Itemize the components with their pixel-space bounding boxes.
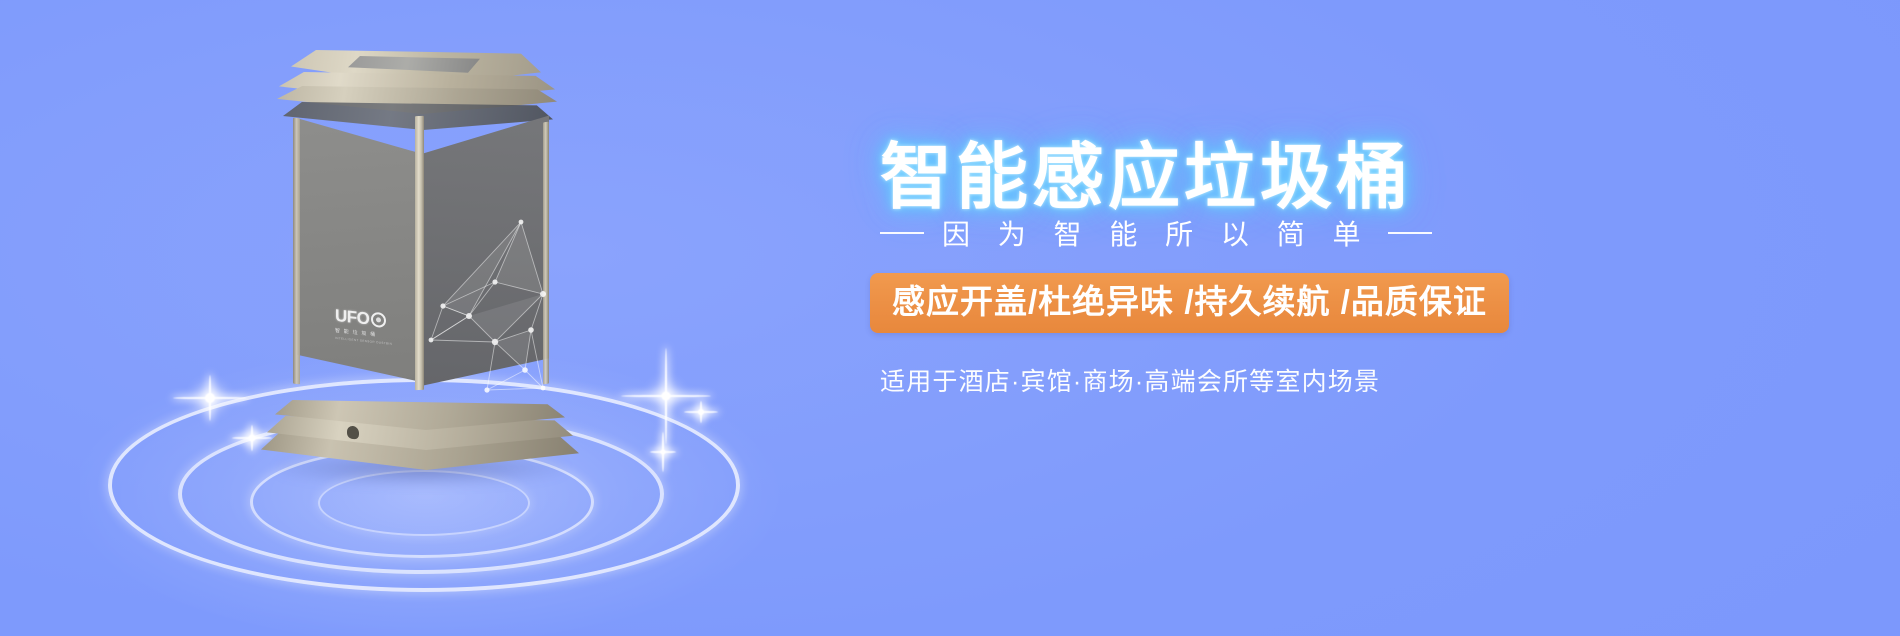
promo-banner: UFO 智 能 垃 圾 桶 INTELLIGENT SENSOR DUSTBIN… [0,0,1900,636]
banner-tagline: 因 为 智 能 所 以 简 单 [880,213,1890,253]
bin-body: UFO 智 能 垃 圾 桶 INTELLIGENT SENSOR DUSTBIN [275,110,565,410]
tagline-dash-left [880,232,924,234]
brand-logo: UFO 智 能 垃 圾 桶 INTELLIGENT SENSOR DUSTBIN [335,307,395,346]
feature-highlight-bar: 感应开盖/杜绝异味 /持久续航 /品质保证 [870,273,1509,333]
feature-highlight-text: 感应开盖/杜绝异味 /持久续航 /品质保证 [892,284,1487,320]
banner-copy: 智能感应垃圾桶 因 为 智 能 所 以 简 单 感应开盖/杜绝异味 /持久续航 … [880,0,1890,636]
product-stage: UFO 智 能 垃 圾 桶 INTELLIGENT SENSOR DUSTBIN [60,0,840,636]
brand-logo-mark: UFO [335,307,369,328]
bin-corner-post [415,116,424,390]
bin-base-plinth [261,400,579,484]
base-sensor-slot [347,425,359,439]
bin-edge-left [293,118,300,385]
banner-title: 智能感应垃圾桶 [880,118,1890,223]
usage-scene-text: 适用于酒店·宾馆·商场·高端会所等室内场景 [880,362,1890,398]
tagline-text: 因 为 智 能 所 以 简 单 [942,213,1370,253]
polygon-network-graphic [425,220,557,410]
tagline-dash-right [1388,232,1432,234]
brand-logo-ring-icon [371,312,386,329]
smart-trash-bin-product: UFO 智 能 垃 圾 桶 INTELLIGENT SENSOR DUSTBIN [255,50,585,450]
